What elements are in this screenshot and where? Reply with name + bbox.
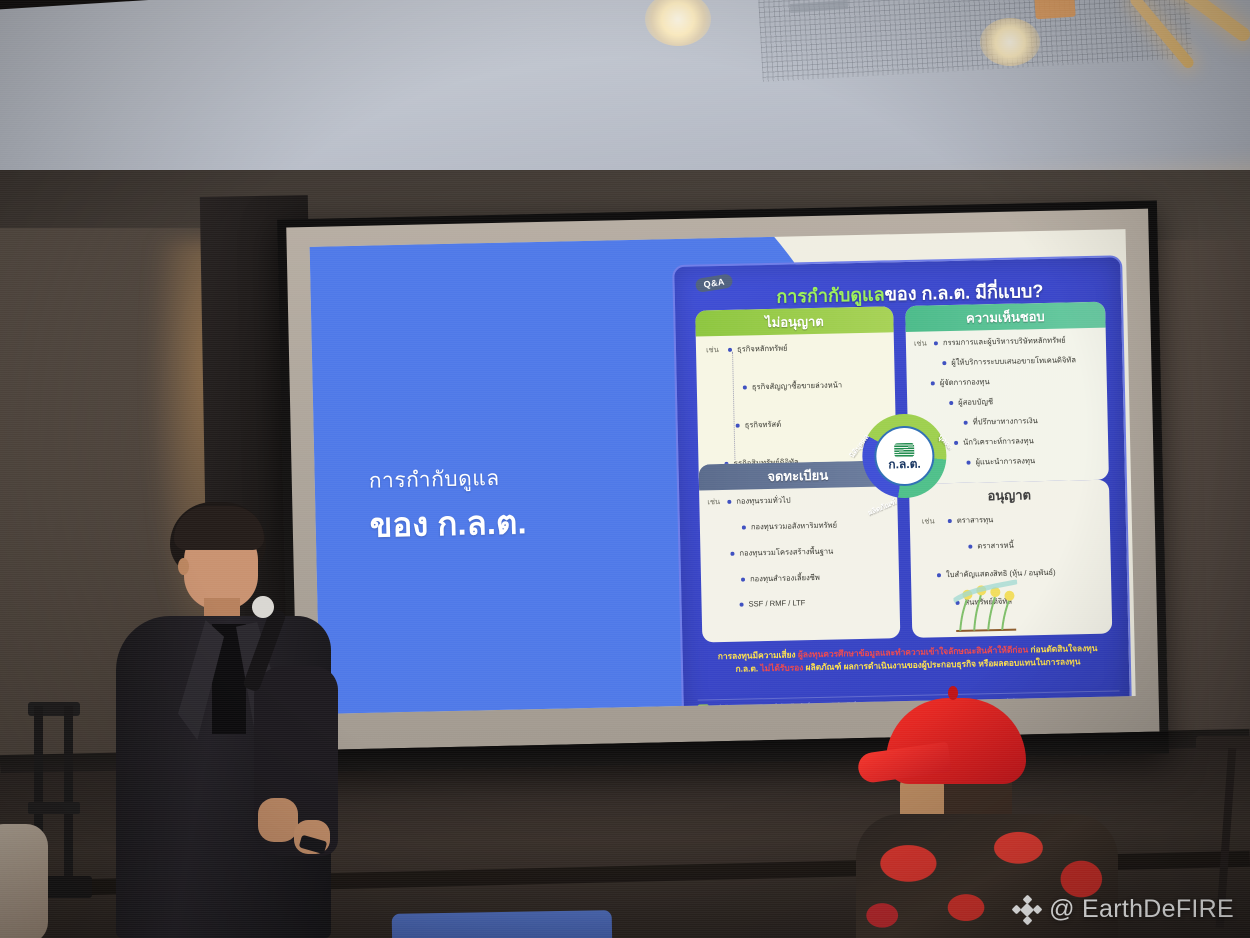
conference-photo-scene: การกำกับดูแล ของ ก.ล.ต. Q&A การกำกับดูแล…	[0, 0, 1250, 938]
watermark-handle: @ EarthDeFIRE	[1049, 895, 1234, 924]
bullet-item: ผู้สอบบัญชี	[949, 396, 993, 409]
bullet-dot-icon	[736, 424, 740, 428]
infographic-card: Q&A การกำกับดูแลของ ก.ล.ต. มีกี่แบบ? ไม่…	[672, 255, 1132, 714]
infographic-heading-green: การกำกับดูแล	[776, 284, 885, 306]
example-label-1: เช่น	[706, 344, 719, 356]
binance-diamond-icon	[1014, 897, 1040, 923]
example-label-4: เช่น	[922, 515, 935, 527]
bullet-dot-icon	[931, 381, 935, 385]
equipment-stand-crossbar	[28, 802, 80, 814]
bullet-dot-icon	[743, 385, 747, 389]
presentation-slide: การกำกับดูแล ของ ก.ล.ต. Q&A การกำกับดูแล…	[310, 229, 1136, 714]
slide-disclaimer: การลงทุนมีความเสี่ยง ผู้ลงทุนควรศึกษาข้อ…	[703, 642, 1113, 677]
sec-logo-text: ก.ล.ต.	[888, 457, 921, 470]
downlight-2-icon	[980, 18, 1040, 66]
bullet-item: กองทุนรวมอสังหาริมทรัพย์	[742, 520, 837, 534]
example-label-2: เช่น	[914, 338, 927, 350]
bullet-dot-icon	[937, 573, 941, 577]
foreground-object-left	[0, 824, 48, 938]
bullet-dot-icon	[968, 545, 972, 549]
bullet-item: ตราสารทุน	[948, 514, 994, 527]
chair-seat	[1196, 736, 1250, 750]
speaker-hair-front	[174, 506, 264, 550]
sec-footer-logo-icon	[698, 704, 709, 713]
infographic-heading-white: ของ ก.ล.ต. มีกี่แบบ?	[884, 281, 1043, 304]
ceiling-amber-panel	[1034, 0, 1075, 19]
bullet-item: กองทุนรวมทั่วไป	[727, 495, 791, 508]
bullet-dot-icon	[742, 526, 746, 530]
bullet-item: กองทุนรวมโครงสร้างพื้นฐาน	[730, 546, 833, 560]
quadrant-header-khwam-hen-chop: ความเห็นชอบ	[905, 302, 1106, 332]
slide-title-line1: การกำกับดูแล	[369, 461, 670, 496]
watermark: @ EarthDeFIRE	[1014, 895, 1234, 924]
bullet-item: กรรมการและผู้บริหารบริษัทหลักทรัพย์	[934, 334, 1066, 349]
bullet-dot-icon	[948, 519, 952, 523]
bullet-item: ผู้แนะนำการลงทุน	[966, 455, 1035, 468]
example-label-3: เช่น	[707, 496, 720, 508]
foreground-table	[392, 910, 613, 938]
bullet-item: ผู้ให้บริการระบบเสนอขายโทเคนดิจิทัล	[942, 354, 1076, 369]
bullet-item: ธุรกิจทรัสต์	[736, 419, 782, 432]
quadrant-chot-thabian: จดทะเบียน เช่น กองทุนรวมทั่วไป กองทุนรวม…	[699, 460, 901, 642]
bullet-dot-icon	[934, 341, 938, 345]
slide-title-line2: ของ ก.ล.ต.	[369, 498, 670, 549]
bullet-dot-icon	[949, 401, 953, 405]
equipment-stand-pole-right	[64, 706, 73, 888]
plants-illustration-icon	[953, 580, 1018, 635]
quadrant-header-anuyat: อนุญาต	[909, 480, 1110, 510]
bullet-dot-icon	[740, 602, 744, 606]
quadrant-header-mai-anuyat: ไม่อนุญาต	[695, 306, 894, 336]
sec-emblem-icon	[894, 442, 914, 456]
bullet-dot-icon	[964, 421, 968, 425]
bullet-item: กองทุนสำรองเลี้ยงชีพ	[741, 572, 820, 586]
bullet-item: ธุรกิจสัญญาซื้อขายล่วงหน้า	[743, 379, 843, 393]
bullet-item: ตราสารหนี้	[968, 540, 1014, 553]
bullet-item: SSF / RMF / LTF	[739, 598, 805, 608]
bullet-dot-icon	[730, 552, 734, 556]
bullet-dot-icon	[727, 500, 731, 504]
screen-border: การกำกับดูแล ของ ก.ล.ต. Q&A การกำกับดูแล…	[286, 209, 1159, 751]
bullet-dot-icon	[942, 361, 946, 365]
speaker-person	[108, 498, 338, 938]
bullet-item: ธุรกิจหลักทรัพย์	[728, 343, 788, 356]
bullet-item: ที่ปรึกษาทางการเงิน	[964, 415, 1038, 429]
slide-title: การกำกับดูแล ของ ก.ล.ต.	[369, 461, 671, 548]
red-cap-button	[948, 686, 958, 700]
bullet-item: นักวิเคราะห์การลงทุน	[954, 435, 1034, 449]
speaker-hand-holding-mic	[258, 798, 298, 842]
bullet-dot-icon	[728, 348, 732, 352]
projection-screen: การกำกับดูแล ของ ก.ล.ต. Q&A การกำกับดูแล…	[277, 200, 1169, 772]
bullet-item: ผู้จัดการกองทุน	[931, 376, 990, 389]
speaker-ear	[178, 558, 189, 575]
bullet-dot-icon	[966, 461, 970, 465]
bullet-dot-icon	[741, 578, 745, 582]
